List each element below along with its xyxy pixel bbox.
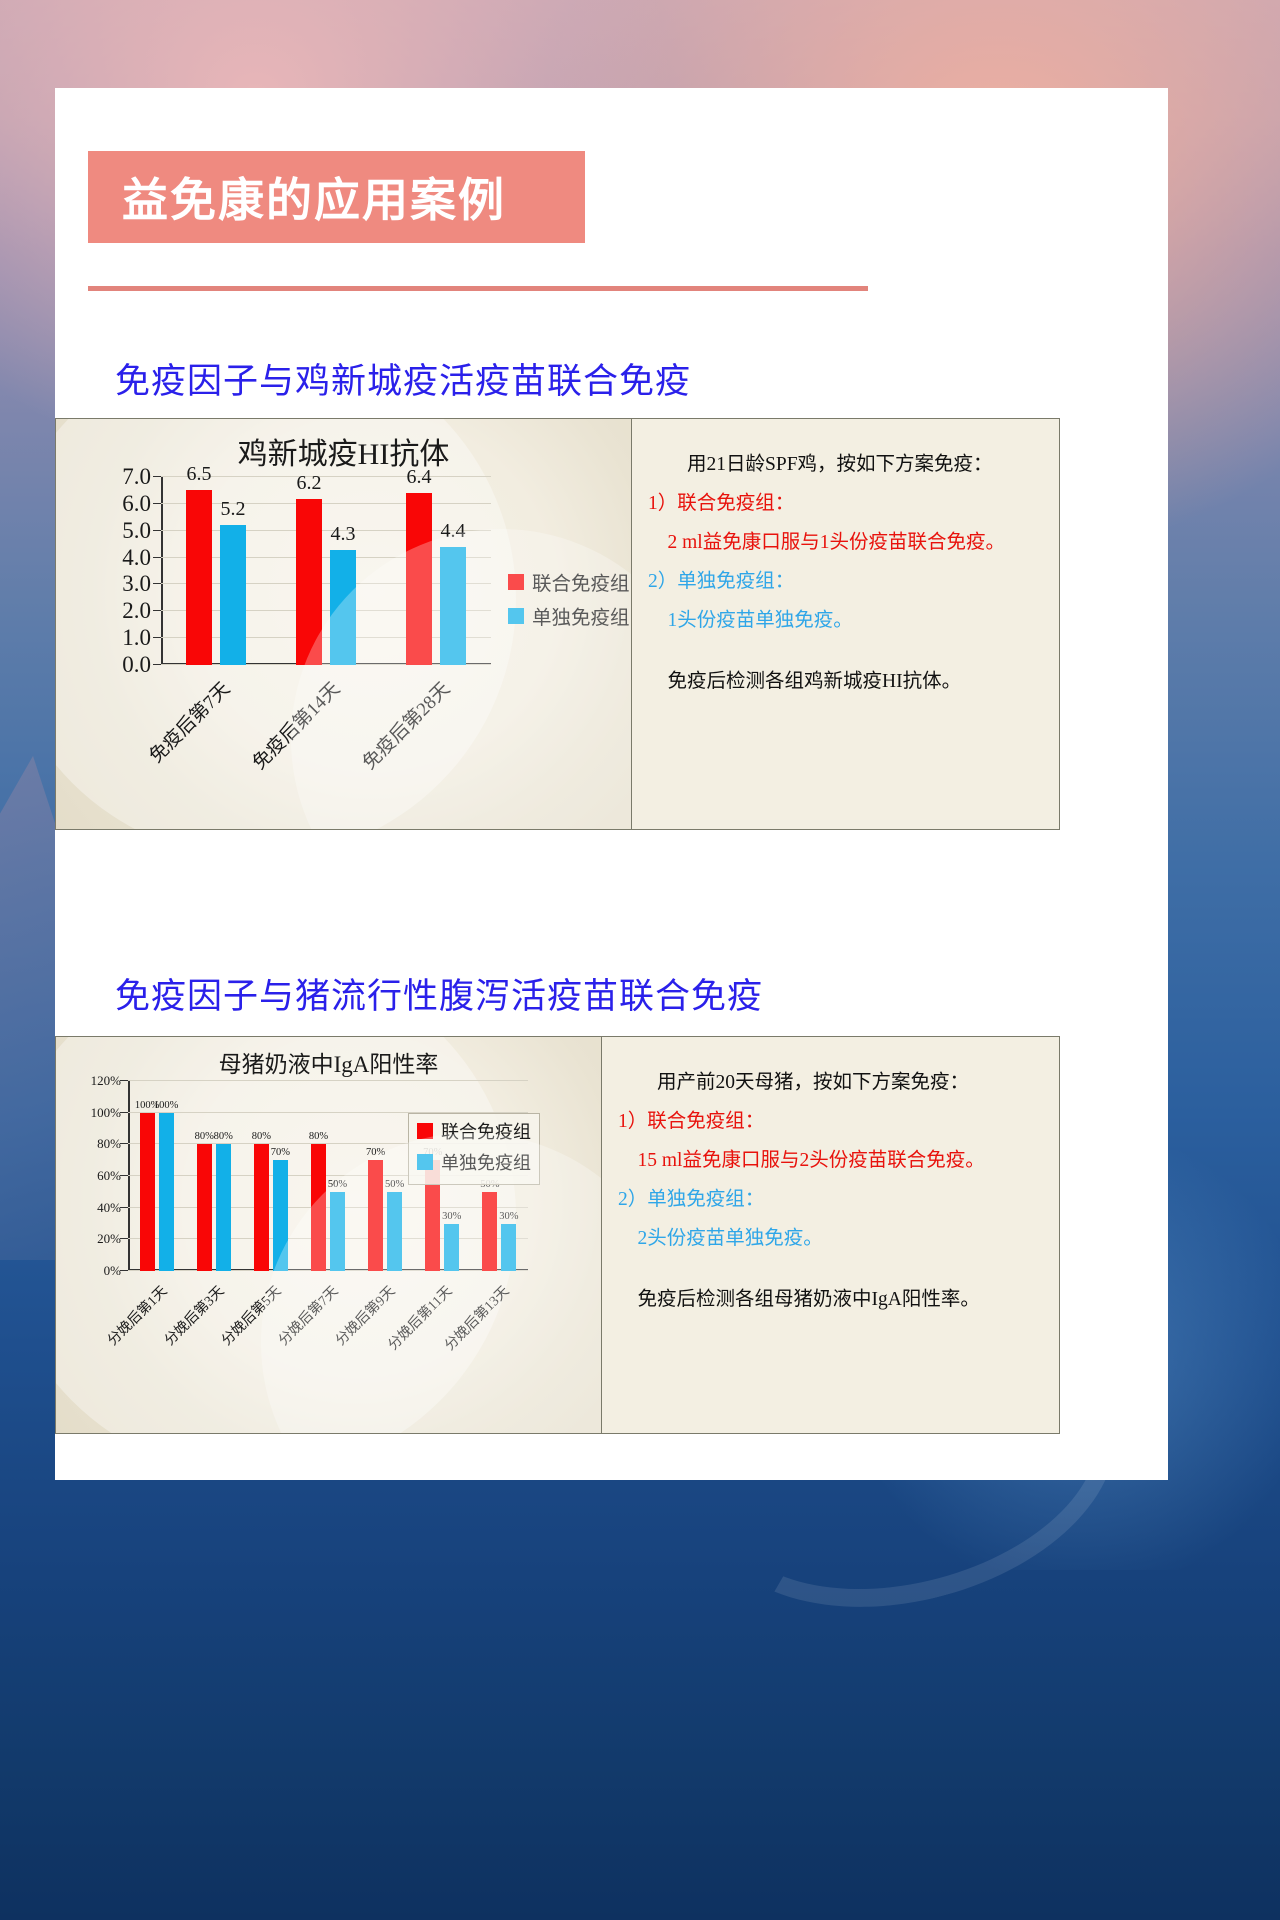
x-axis-category-label: 分娩后第11天 xyxy=(383,1281,456,1354)
bar: 100% xyxy=(159,1113,174,1271)
bar-value-label: 5.2 xyxy=(221,498,246,521)
chart-2-legend: 联合免疫组单独免疫组 xyxy=(408,1113,540,1185)
legend-item: 单独免疫组 xyxy=(417,1149,531,1175)
section-heading-1: 免疫因子与鸡新城疫活疫苗联合免疫 xyxy=(115,353,691,404)
section-1-protocol-text: 用21日龄SPF鸡，按如下方案免疫： 1）联合免疫组： 2 ml益免康口服与1头… xyxy=(631,419,1059,829)
chart-2-plot-area: 0%20%40%60%80%100%120% 100%100%80%80%80%… xyxy=(128,1081,528,1271)
y-axis-tick-label: 60% xyxy=(97,1168,128,1184)
bar: 100% xyxy=(140,1113,155,1271)
bar-value-label: 4.4 xyxy=(441,520,466,543)
section-2-panel: 母猪奶液中IgA阳性率 0%20%40%60%80%100%120% 100%1… xyxy=(55,1036,1060,1434)
bar-value-label: 50% xyxy=(328,1179,347,1190)
bar-group: 70%50% xyxy=(357,1081,414,1271)
x-axis-category-label: 分娩后第3天 xyxy=(159,1281,228,1350)
bar-group: 6.55.2 xyxy=(161,477,271,665)
legend-label: 单独免疫组 xyxy=(532,601,630,630)
bar-value-label: 4.3 xyxy=(331,523,356,546)
legend-swatch xyxy=(417,1154,433,1170)
y-axis-tick-label: 4.0 xyxy=(122,545,161,571)
s2-conclusion: 免疫后检测各组母猪奶液中IgA阳性率。 xyxy=(618,1280,1043,1319)
y-axis-tick-label: 7.0 xyxy=(122,464,161,490)
bar: 6.2 xyxy=(296,499,322,666)
y-axis-tick-label: 6.0 xyxy=(122,491,161,517)
x-axis-category-label: 分娩后第5天 xyxy=(216,1281,285,1350)
bar: 50% xyxy=(482,1192,497,1271)
bar: 50% xyxy=(330,1192,345,1271)
legend-label: 联合免疫组 xyxy=(532,567,630,596)
s1-item2-detail: 1头份疫苗单独免疫。 xyxy=(648,601,1043,640)
y-axis-tick-label: 80% xyxy=(97,1136,128,1152)
y-axis-tick-label: 0% xyxy=(104,1263,128,1279)
bar: 80% xyxy=(254,1144,269,1271)
chart-1-plot-area: 0.01.02.03.04.05.06.07.0 6.55.26.24.36.4… xyxy=(161,477,491,665)
bar: 6.5 xyxy=(186,490,212,665)
legend-swatch xyxy=(508,608,524,624)
s1-item2-title: 2）单独免疫组： xyxy=(648,562,1043,601)
x-axis-category-label: 分娩后第1天 xyxy=(102,1281,171,1350)
s2-intro: 用产前20天母猪，按如下方案免疫： xyxy=(618,1063,1043,1102)
page-title: 益免康的应用案例 xyxy=(122,164,506,230)
bar: 80% xyxy=(216,1144,231,1271)
bar: 80% xyxy=(197,1144,212,1271)
legend-label: 联合免疫组 xyxy=(441,1118,531,1144)
chart-chicken-hi-antibody: 鸡新城疫HI抗体 0.01.02.03.04.05.06.07.0 6.55.2… xyxy=(56,419,631,829)
bar-value-label: 100% xyxy=(154,1100,179,1111)
chart-1-bars: 6.55.26.24.36.44.4 xyxy=(161,477,491,665)
s2-item1-detail: 15 ml益免康口服与2头份疫苗联合免疫。 xyxy=(618,1141,1043,1180)
chart-1-legend: 联合免疫组单独免疫组 xyxy=(508,567,630,635)
y-axis-tick-label: 5.0 xyxy=(122,518,161,544)
y-axis-tick-label: 120% xyxy=(91,1073,128,1089)
chart-sow-milk-iga: 母猪奶液中IgA阳性率 0%20%40%60%80%100%120% 100%1… xyxy=(56,1037,601,1433)
bar-value-label: 80% xyxy=(195,1131,214,1142)
legend-swatch xyxy=(508,574,524,590)
bar: 4.3 xyxy=(330,550,356,665)
bar: 6.4 xyxy=(406,493,432,665)
bar-group: 80%70% xyxy=(242,1081,299,1271)
bar: 70% xyxy=(368,1160,383,1271)
bar-group: 80%50% xyxy=(299,1081,356,1271)
bar-value-label: 70% xyxy=(271,1147,290,1158)
s1-item1-detail: 2 ml益免康口服与1头份疫苗联合免疫。 xyxy=(648,523,1043,562)
bar-group: 6.44.4 xyxy=(381,477,491,665)
bar-value-label: 50% xyxy=(480,1179,499,1190)
bar: 70% xyxy=(425,1160,440,1271)
s1-conclusion: 免疫后检测各组鸡新城疫HI抗体。 xyxy=(648,662,1043,701)
section-1-panel: 鸡新城疫HI抗体 0.01.02.03.04.05.06.07.0 6.55.2… xyxy=(55,418,1060,830)
legend-item: 联合免疫组 xyxy=(508,567,630,596)
s2-item2-title: 2）单独免疫组： xyxy=(618,1180,1043,1219)
legend-item: 单独免疫组 xyxy=(508,601,630,630)
bar: 50% xyxy=(387,1192,402,1271)
bar-group: 70%30% xyxy=(414,1081,471,1271)
y-axis-tick-label: 2.0 xyxy=(122,598,161,624)
slide-card: 益免康的应用案例 免疫因子与鸡新城疫活疫苗联合免疫 鸡新城疫HI抗体 0.01.… xyxy=(55,88,1168,1480)
bar-group: 100%100% xyxy=(128,1081,185,1271)
s2-item1-title: 1）联合免疫组： xyxy=(618,1102,1043,1141)
y-axis-tick-label: 0.0 xyxy=(122,652,161,678)
x-axis-category-label: 免疫后第14天 xyxy=(245,675,345,775)
section-heading-2: 免疫因子与猪流行性腹泻活疫苗联合免疫 xyxy=(115,968,763,1019)
bar-group: 80%80% xyxy=(185,1081,242,1271)
x-axis-category-label: 分娩后第13天 xyxy=(440,1281,514,1355)
bar-value-label: 80% xyxy=(214,1131,233,1142)
bar-value-label: 30% xyxy=(499,1211,518,1222)
s2-item2-detail: 2头份疫苗单独免疫。 xyxy=(618,1219,1043,1258)
bar-group: 50%30% xyxy=(471,1081,528,1271)
s1-spacer xyxy=(648,640,1043,662)
s1-item1-title: 1）联合免疫组： xyxy=(648,484,1043,523)
y-axis-tick-label: 20% xyxy=(97,1231,128,1247)
bar-value-label: 70% xyxy=(366,1147,385,1158)
bar-value-label: 6.5 xyxy=(187,463,212,486)
bar-group: 6.24.3 xyxy=(271,477,381,665)
s2-spacer xyxy=(618,1258,1043,1280)
legend-swatch xyxy=(417,1123,433,1139)
s1-intro: 用21日龄SPF鸡，按如下方案免疫： xyxy=(648,445,1043,484)
bar: 4.4 xyxy=(440,547,466,665)
x-axis-category-label: 免疫后第28天 xyxy=(355,675,455,775)
x-axis-category-label: 免疫后第7天 xyxy=(142,675,235,768)
y-axis-tick-label: 3.0 xyxy=(122,571,161,597)
bar: 30% xyxy=(501,1224,516,1272)
chart-2-bars: 100%100%80%80%80%70%80%50%70%50%70%30%50… xyxy=(128,1081,528,1271)
bar-value-label: 6.4 xyxy=(407,466,432,489)
title-banner: 益免康的应用案例 xyxy=(88,151,585,243)
bar: 30% xyxy=(444,1224,459,1272)
title-divider xyxy=(88,286,868,291)
bar: 70% xyxy=(273,1160,288,1271)
bar: 5.2 xyxy=(220,525,246,665)
legend-label: 单独免疫组 xyxy=(441,1149,531,1175)
bar-value-label: 70% xyxy=(423,1147,442,1158)
chart-2-title: 母猪奶液中IgA阳性率 xyxy=(56,1045,601,1079)
bar-value-label: 50% xyxy=(385,1179,404,1190)
legend-item: 联合免疫组 xyxy=(417,1118,531,1144)
y-axis-tick-label: 40% xyxy=(97,1200,128,1216)
section-2-protocol-text: 用产前20天母猪，按如下方案免疫： 1）联合免疫组： 15 ml益免康口服与2头… xyxy=(601,1037,1059,1433)
bar-value-label: 30% xyxy=(442,1211,461,1222)
x-axis-category-label: 分娩后第7天 xyxy=(274,1281,343,1350)
bar-value-label: 80% xyxy=(309,1131,328,1142)
bar: 80% xyxy=(311,1144,326,1271)
y-axis-tick-label: 100% xyxy=(91,1105,128,1121)
bar-value-label: 6.2 xyxy=(297,472,322,495)
y-axis-tick-label: 1.0 xyxy=(122,625,161,651)
bar-value-label: 80% xyxy=(252,1131,271,1142)
x-axis-category-label: 分娩后第9天 xyxy=(331,1281,400,1350)
